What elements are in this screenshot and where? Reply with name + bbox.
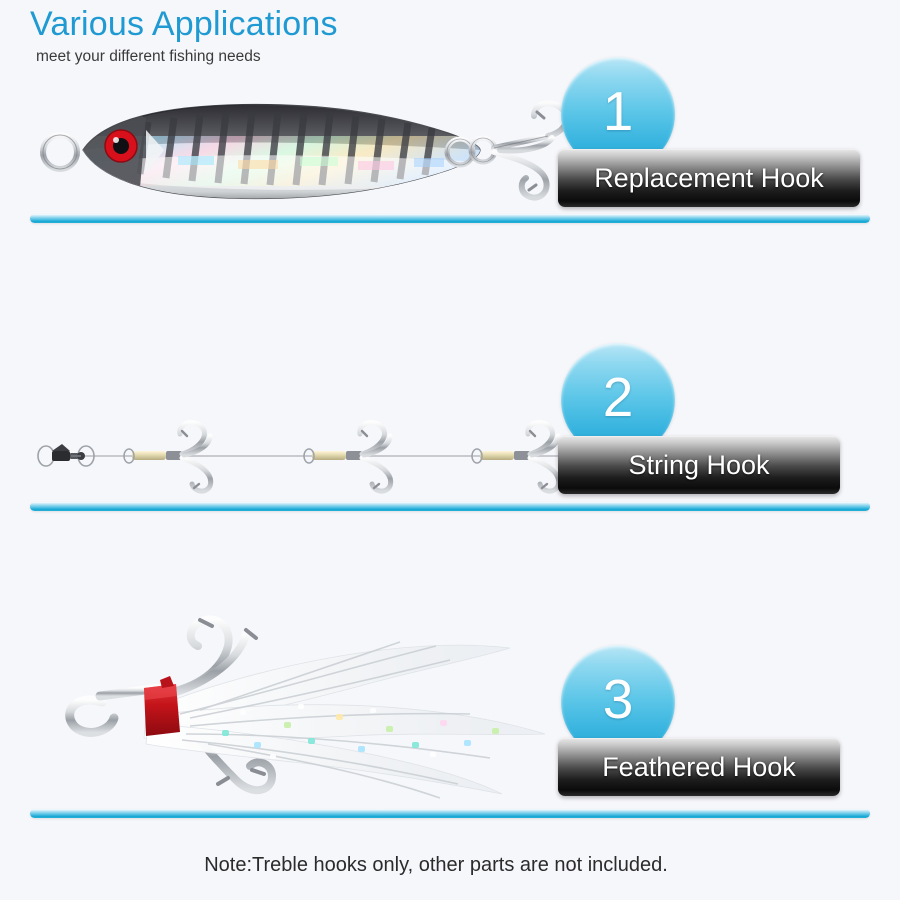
- lure-nose-ring: [43, 135, 77, 169]
- treble-hook: [494, 103, 567, 197]
- section-divider-2: [30, 502, 870, 511]
- lure-eye: [105, 130, 137, 162]
- section-divider-1: [30, 214, 870, 223]
- infographic-page: Various Applications meet your different…: [0, 0, 900, 900]
- art-string-rig: [24, 418, 569, 498]
- label-text-1: Replacement Hook: [594, 165, 824, 192]
- section-divider-3: [30, 809, 870, 818]
- header: Various Applications meet your different…: [30, 4, 630, 68]
- metal-jig-lure-icon: [28, 78, 573, 208]
- feather-skirt: [144, 642, 545, 798]
- feathered-hook-icon: [40, 602, 565, 812]
- page-subtitle: meet your different fishing needs: [36, 46, 630, 68]
- art-metal-jig-lure: [28, 78, 573, 208]
- string-rig-icon: [24, 418, 569, 498]
- step-badge-number-3: 3: [603, 672, 634, 727]
- label-text-3: Feathered Hook: [602, 754, 796, 781]
- step-badge-number-2: 2: [603, 370, 634, 425]
- label-plate-string-hook[interactable]: String Hook: [558, 436, 840, 494]
- label-plate-replacement-hook[interactable]: Replacement Hook: [558, 149, 860, 207]
- swivel-clip: [38, 444, 94, 466]
- page-title: Various Applications: [30, 4, 630, 44]
- footer-note-text: Note:Treble hooks only, other parts are …: [204, 854, 696, 876]
- step-badge-number-1: 1: [603, 84, 634, 139]
- label-text-2: String Hook: [628, 452, 769, 479]
- footer-note: Note:Treble hooks only, other parts are …: [0, 852, 900, 878]
- lure-body: [83, 98, 483, 208]
- art-feathered-hook: [40, 602, 565, 812]
- label-plate-feathered-hook[interactable]: Feathered Hook: [558, 738, 840, 796]
